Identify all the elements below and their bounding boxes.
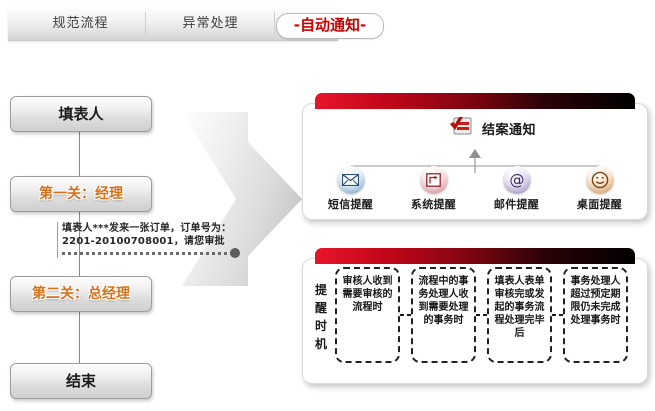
timing-item-reviewer-receives[interactable]: 审核人收到需要审核的流程时	[335, 267, 400, 363]
channel-sms[interactable]: 短信提醒	[312, 166, 390, 212]
callout-vertical-line	[57, 222, 58, 258]
callout-line-1: 填表人***发来一张订单，订单号为：	[62, 222, 237, 235]
closing-notice-header: 结案通知	[449, 114, 536, 142]
closing-notification-panel: 结案通知 短信提醒	[302, 103, 648, 220]
timing-connector	[476, 267, 487, 363]
timing-item-form-completed[interactable]: 填表人表单审核完或发起的事务流程处理完毕后	[487, 267, 552, 363]
channel-email-label: 邮件提醒	[478, 196, 556, 212]
tab-exception-handling[interactable]: 异常处理	[148, 8, 273, 40]
tab-divider	[145, 12, 146, 36]
flow-node-level-1-manager[interactable]: 第一关：经理	[10, 176, 152, 212]
reminder-timing-panel: 提醒时机 审核人收到需要审核的流程时 流程中的事务处理人收到需要处理的事务时 填…	[302, 258, 648, 384]
callout-line-2: 2201-20100708001，请您审批	[62, 235, 237, 248]
tab-bar: 规范流程 异常处理 -自动通知-	[8, 8, 338, 41]
callout-endpoint-dot	[230, 248, 240, 258]
timing-item-overdue[interactable]: 事务处理人超过预定期限仍未完成处理事务时	[563, 267, 628, 363]
timing-connector	[552, 267, 563, 363]
timing-connector	[400, 267, 411, 363]
closing-notice-title: 结案通知	[482, 119, 536, 138]
panel-top-accent-bar	[315, 93, 635, 109]
channel-sms-label: 短信提醒	[312, 196, 390, 212]
document-check-icon	[449, 116, 475, 140]
flow-node-form-filler[interactable]: 填表人	[10, 96, 152, 132]
channel-desktop[interactable]: 桌面提醒	[561, 166, 639, 212]
notification-channel-list: 短信提醒 系统提醒 @ 邮件提醒	[309, 166, 641, 212]
tab-divider	[274, 12, 275, 36]
svg-text:@: @	[509, 171, 524, 189]
at-sign-icon: @	[503, 166, 531, 194]
system-window-icon	[420, 166, 448, 194]
flow-node-level-2-general-manager[interactable]: 第二关：总经理	[10, 276, 152, 312]
big-right-arrow-icon	[178, 108, 306, 290]
timing-item-handler-receives[interactable]: 流程中的事务处理人收到需要处理的事务时	[411, 267, 476, 363]
reminder-timing-list: 审核人收到需要审核的流程时 流程中的事务处理人收到需要处理的事务时 填表人表单审…	[335, 267, 641, 377]
flow-connector	[79, 310, 80, 363]
tab-standard-process[interactable]: 规范流程	[18, 8, 143, 40]
reminder-timing-label: 提醒时机	[311, 281, 331, 353]
notification-callout: 填表人***发来一张订单，订单号为： 2201-20100708001，请您审批	[62, 222, 237, 248]
envelope-icon	[337, 166, 365, 194]
channel-desktop-label: 桌面提醒	[561, 196, 639, 212]
channel-system[interactable]: 系统提醒	[395, 166, 473, 212]
channel-email[interactable]: @ 邮件提醒	[478, 166, 556, 212]
smiley-face-icon	[586, 166, 614, 194]
tab-auto-notification[interactable]: -自动通知-	[276, 13, 384, 39]
flow-node-end[interactable]: 结束	[10, 363, 152, 399]
channel-system-label: 系统提醒	[395, 196, 473, 212]
callout-dashed-line	[62, 252, 234, 255]
panel-bottom-accent-bar	[315, 248, 635, 264]
flow-connector	[79, 130, 80, 176]
